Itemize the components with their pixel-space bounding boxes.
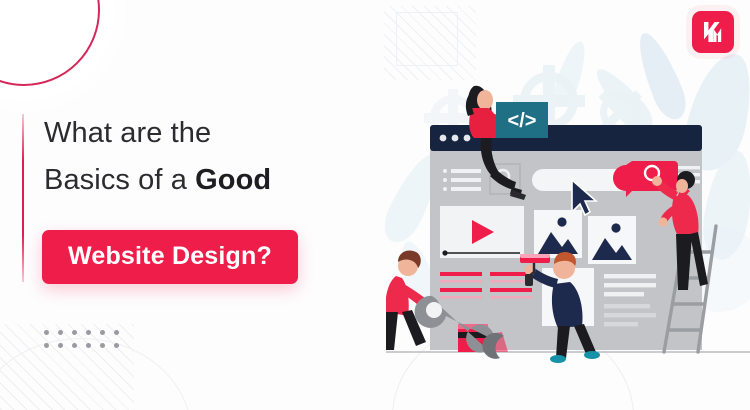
headline-line-1: What are the bbox=[44, 110, 374, 157]
image-card-2 bbox=[588, 216, 636, 264]
page-title: What are the Basics of a Good bbox=[44, 110, 374, 204]
headline-accent-line bbox=[22, 114, 24, 282]
website-design-illustration: </> bbox=[386, 40, 750, 370]
video-play-card bbox=[440, 206, 524, 258]
headline-line-2: Basics of a Good bbox=[44, 157, 374, 204]
image-card-1 bbox=[534, 210, 582, 258]
woman-face bbox=[477, 90, 493, 110]
dot-grid-decoration bbox=[44, 330, 128, 356]
code-symbol: </> bbox=[508, 110, 537, 132]
headline-line-2-plain: Basics of a bbox=[44, 164, 195, 196]
blog-banner: What are the Basics of a Good Website De… bbox=[0, 0, 750, 410]
browser-dot-1 bbox=[440, 135, 447, 142]
illustration: </> bbox=[386, 40, 750, 370]
headline-line-2-bold: Good bbox=[195, 164, 271, 196]
browser-dot-2 bbox=[452, 135, 459, 142]
wrench-woman-shirt bbox=[386, 276, 409, 316]
browser-dot-3 bbox=[464, 135, 471, 142]
code-panel: </> bbox=[496, 102, 548, 138]
status-badge: Website Design? bbox=[42, 230, 298, 284]
